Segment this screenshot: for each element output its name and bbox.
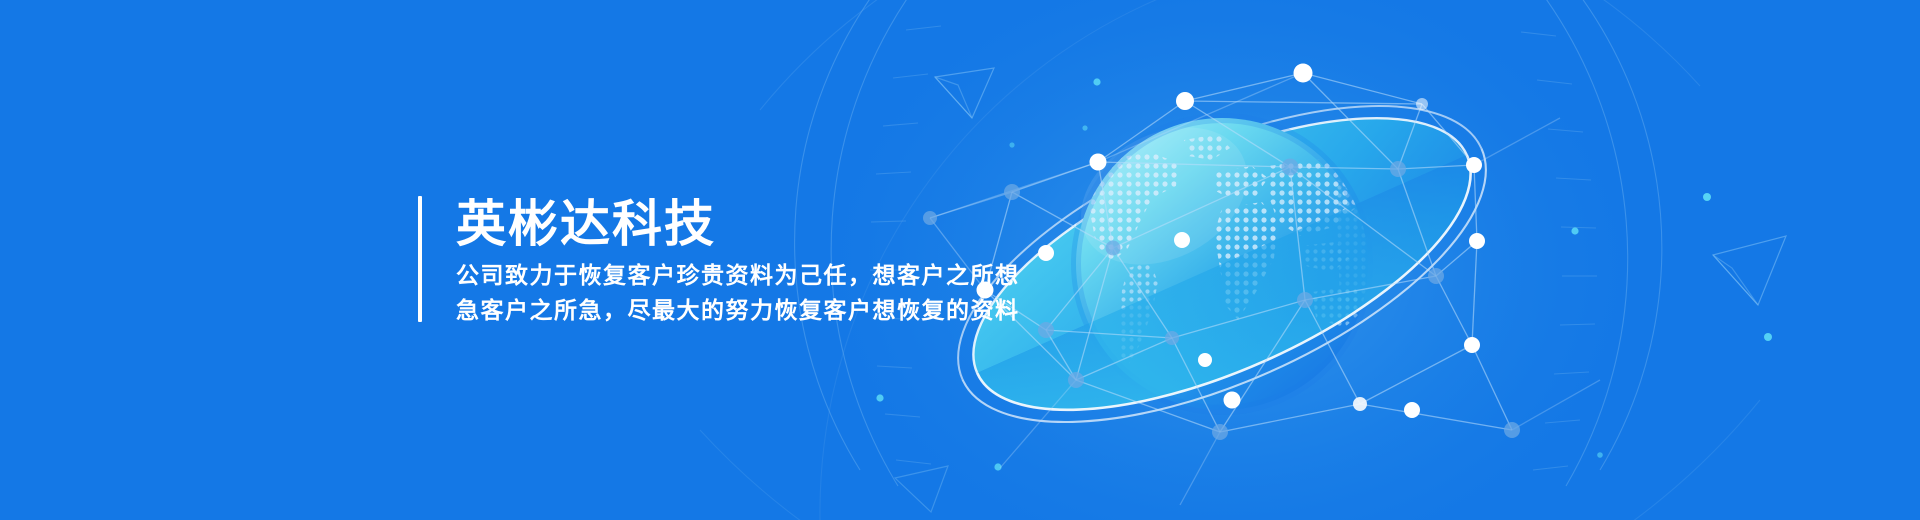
tagline-line-2: 急客户之所急，尽最大的努力恢复客户想恢复的资料 [456, 293, 1020, 328]
tagline-line-1: 公司致力于恢复客户珍贵资料为己任，想客户之所想 [456, 258, 1020, 293]
hero-text-block: 英彬达科技 公司致力于恢复客户珍贵资料为己任，想客户之所想 急客户之所急，尽最大… [418, 196, 1020, 322]
page-title: 英彬达科技 [456, 196, 1020, 252]
tagline: 公司致力于恢复客户珍贵资料为己任，想客户之所想 急客户之所急，尽最大的努力恢复客… [456, 258, 1020, 328]
hero-banner: 英彬达科技 公司致力于恢复客户珍贵资料为己任，想客户之所想 急客户之所急，尽最大… [0, 0, 1920, 520]
hero-text-content: 英彬达科技 公司致力于恢复客户珍贵资料为己任，想客户之所想 急客户之所急，尽最大… [422, 196, 1020, 322]
